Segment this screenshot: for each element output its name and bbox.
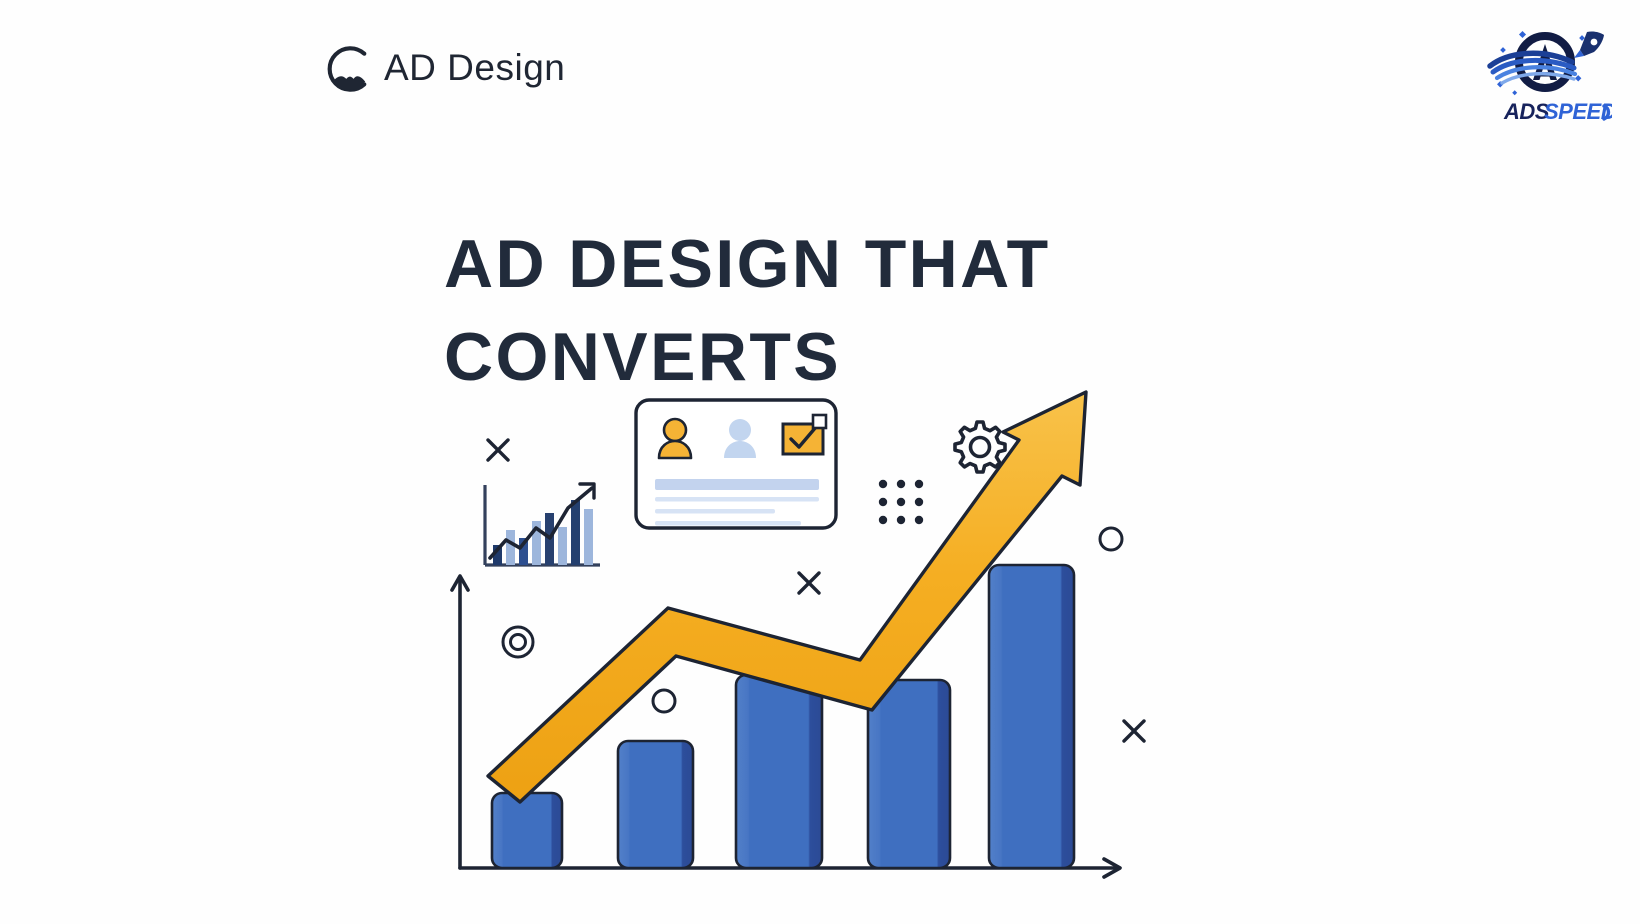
- brand-logo-right[interactable]: ADS SPEED: [1484, 18, 1612, 128]
- brand-logo-left[interactable]: AD Design: [322, 42, 565, 96]
- circle-outline-small-icon: [653, 690, 675, 712]
- x-sparkle-3-icon: [1124, 721, 1144, 741]
- gear-icon: [955, 422, 1005, 472]
- illustration-svg: [440, 380, 1160, 924]
- bar-5: [989, 565, 1074, 868]
- bar-2: [618, 741, 693, 868]
- x-sparkle-1-icon: [488, 440, 508, 460]
- poster-canvas: AD Design: [0, 0, 1640, 924]
- bar-3: [736, 675, 822, 868]
- adsspeed-wordmark-icon: ADS SPEED: [1503, 99, 1612, 124]
- brand-wordmark-left: AD Design: [384, 49, 565, 89]
- mini-bar-chart-icon: [485, 484, 600, 565]
- svg-text:SPEED: SPEED: [1544, 99, 1612, 124]
- growth-chart-illustration: [440, 380, 1160, 924]
- audience-card: [636, 400, 836, 528]
- x-sparkle-2-icon: [799, 573, 819, 593]
- ad-design-circle-mark-icon: [322, 42, 376, 96]
- circle-outline-tiny-icon: [1100, 528, 1122, 550]
- dots-grid-icon: [879, 480, 923, 524]
- rocket-icon: [1574, 32, 1604, 58]
- circle-outline-ring-icon: [503, 627, 533, 657]
- circle-outline-inner-icon: [511, 635, 526, 650]
- svg-text:ADS: ADS: [1503, 99, 1550, 124]
- bar-1: [492, 793, 562, 868]
- adsspeed-rocket-mark-icon: ADS SPEED: [1484, 18, 1612, 128]
- page-title: AD DESIGN THAT CONVERTS: [444, 218, 1144, 406]
- bar-4: [868, 680, 950, 868]
